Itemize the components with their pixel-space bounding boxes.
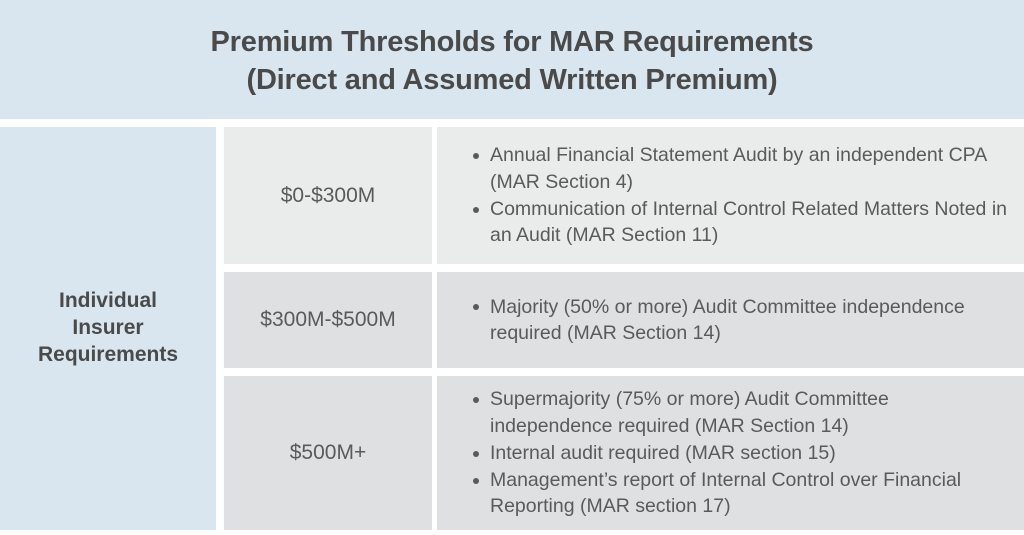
threshold-cell: $0-$300M xyxy=(224,127,432,264)
threshold-label: $500M+ xyxy=(290,441,366,465)
requirement-list: Majority (50% or more) Audit Committee i… xyxy=(437,294,1008,347)
list-item-text: Internal audit required (MAR section 15) xyxy=(490,442,836,464)
threshold-label: $300M-$500M xyxy=(260,308,395,332)
requirement-list: Supermajority (75% or more) Audit Commit… xyxy=(437,386,1008,520)
row-group-label-cell: Individual Insurer Requirements xyxy=(0,127,216,530)
page-title-line-2: (Direct and Assumed Written Premium) xyxy=(246,62,777,100)
list-item: Supermajority (75% or more) Audit Commit… xyxy=(437,386,1008,439)
requirements-cell: Annual Financial Statement Audit by an i… xyxy=(437,127,1024,264)
list-item-text: Supermajority (75% or more) Audit Commit… xyxy=(490,388,889,436)
list-item: Management’s report of Internal Control … xyxy=(437,467,1008,520)
requirements-table: Individual Insurer Requirements $0-$300M… xyxy=(0,127,1024,530)
bullet-icon xyxy=(473,207,479,213)
list-item-text: Communication of Internal Control Relate… xyxy=(490,198,1007,246)
row-group-label: Individual Insurer Requirements xyxy=(38,288,178,369)
list-item-text: Majority (50% or more) Audit Committee i… xyxy=(490,296,965,344)
list-item: Internal audit required (MAR section 15) xyxy=(437,440,1008,466)
bullet-icon xyxy=(473,478,479,484)
list-item-text: Management’s report of Internal Control … xyxy=(490,469,961,517)
table-row: $0-$300M Annual Financial Statement Audi… xyxy=(224,127,1024,264)
threshold-label: $0-$300M xyxy=(281,184,376,208)
requirement-list: Annual Financial Statement Audit by an i… xyxy=(437,142,1008,248)
infographic-root: Premium Thresholds for MAR Requirements … xyxy=(0,0,1024,535)
bullet-icon xyxy=(473,397,479,403)
table-grid: $0-$300M Annual Financial Statement Audi… xyxy=(224,127,1024,530)
list-item: Majority (50% or more) Audit Committee i… xyxy=(437,294,1008,347)
list-item-text: Annual Financial Statement Audit by an i… xyxy=(490,144,986,192)
title-band: Premium Thresholds for MAR Requirements … xyxy=(0,0,1024,119)
list-item: Annual Financial Statement Audit by an i… xyxy=(437,142,1008,195)
table-row: $500M+ Supermajority (75% or more) Audit… xyxy=(224,376,1024,530)
threshold-cell: $300M-$500M xyxy=(224,272,432,368)
list-item: Communication of Internal Control Relate… xyxy=(437,196,1008,249)
bullet-icon xyxy=(473,153,479,159)
requirements-cell: Supermajority (75% or more) Audit Commit… xyxy=(437,376,1024,530)
threshold-cell: $500M+ xyxy=(224,376,432,530)
requirements-cell: Majority (50% or more) Audit Committee i… xyxy=(437,272,1024,368)
bullet-icon xyxy=(473,451,479,457)
page-title-line-1: Premium Thresholds for MAR Requirements xyxy=(211,24,814,62)
bullet-icon xyxy=(473,304,479,310)
table-row: $300M-$500M Majority (50% or more) Audit… xyxy=(224,272,1024,368)
